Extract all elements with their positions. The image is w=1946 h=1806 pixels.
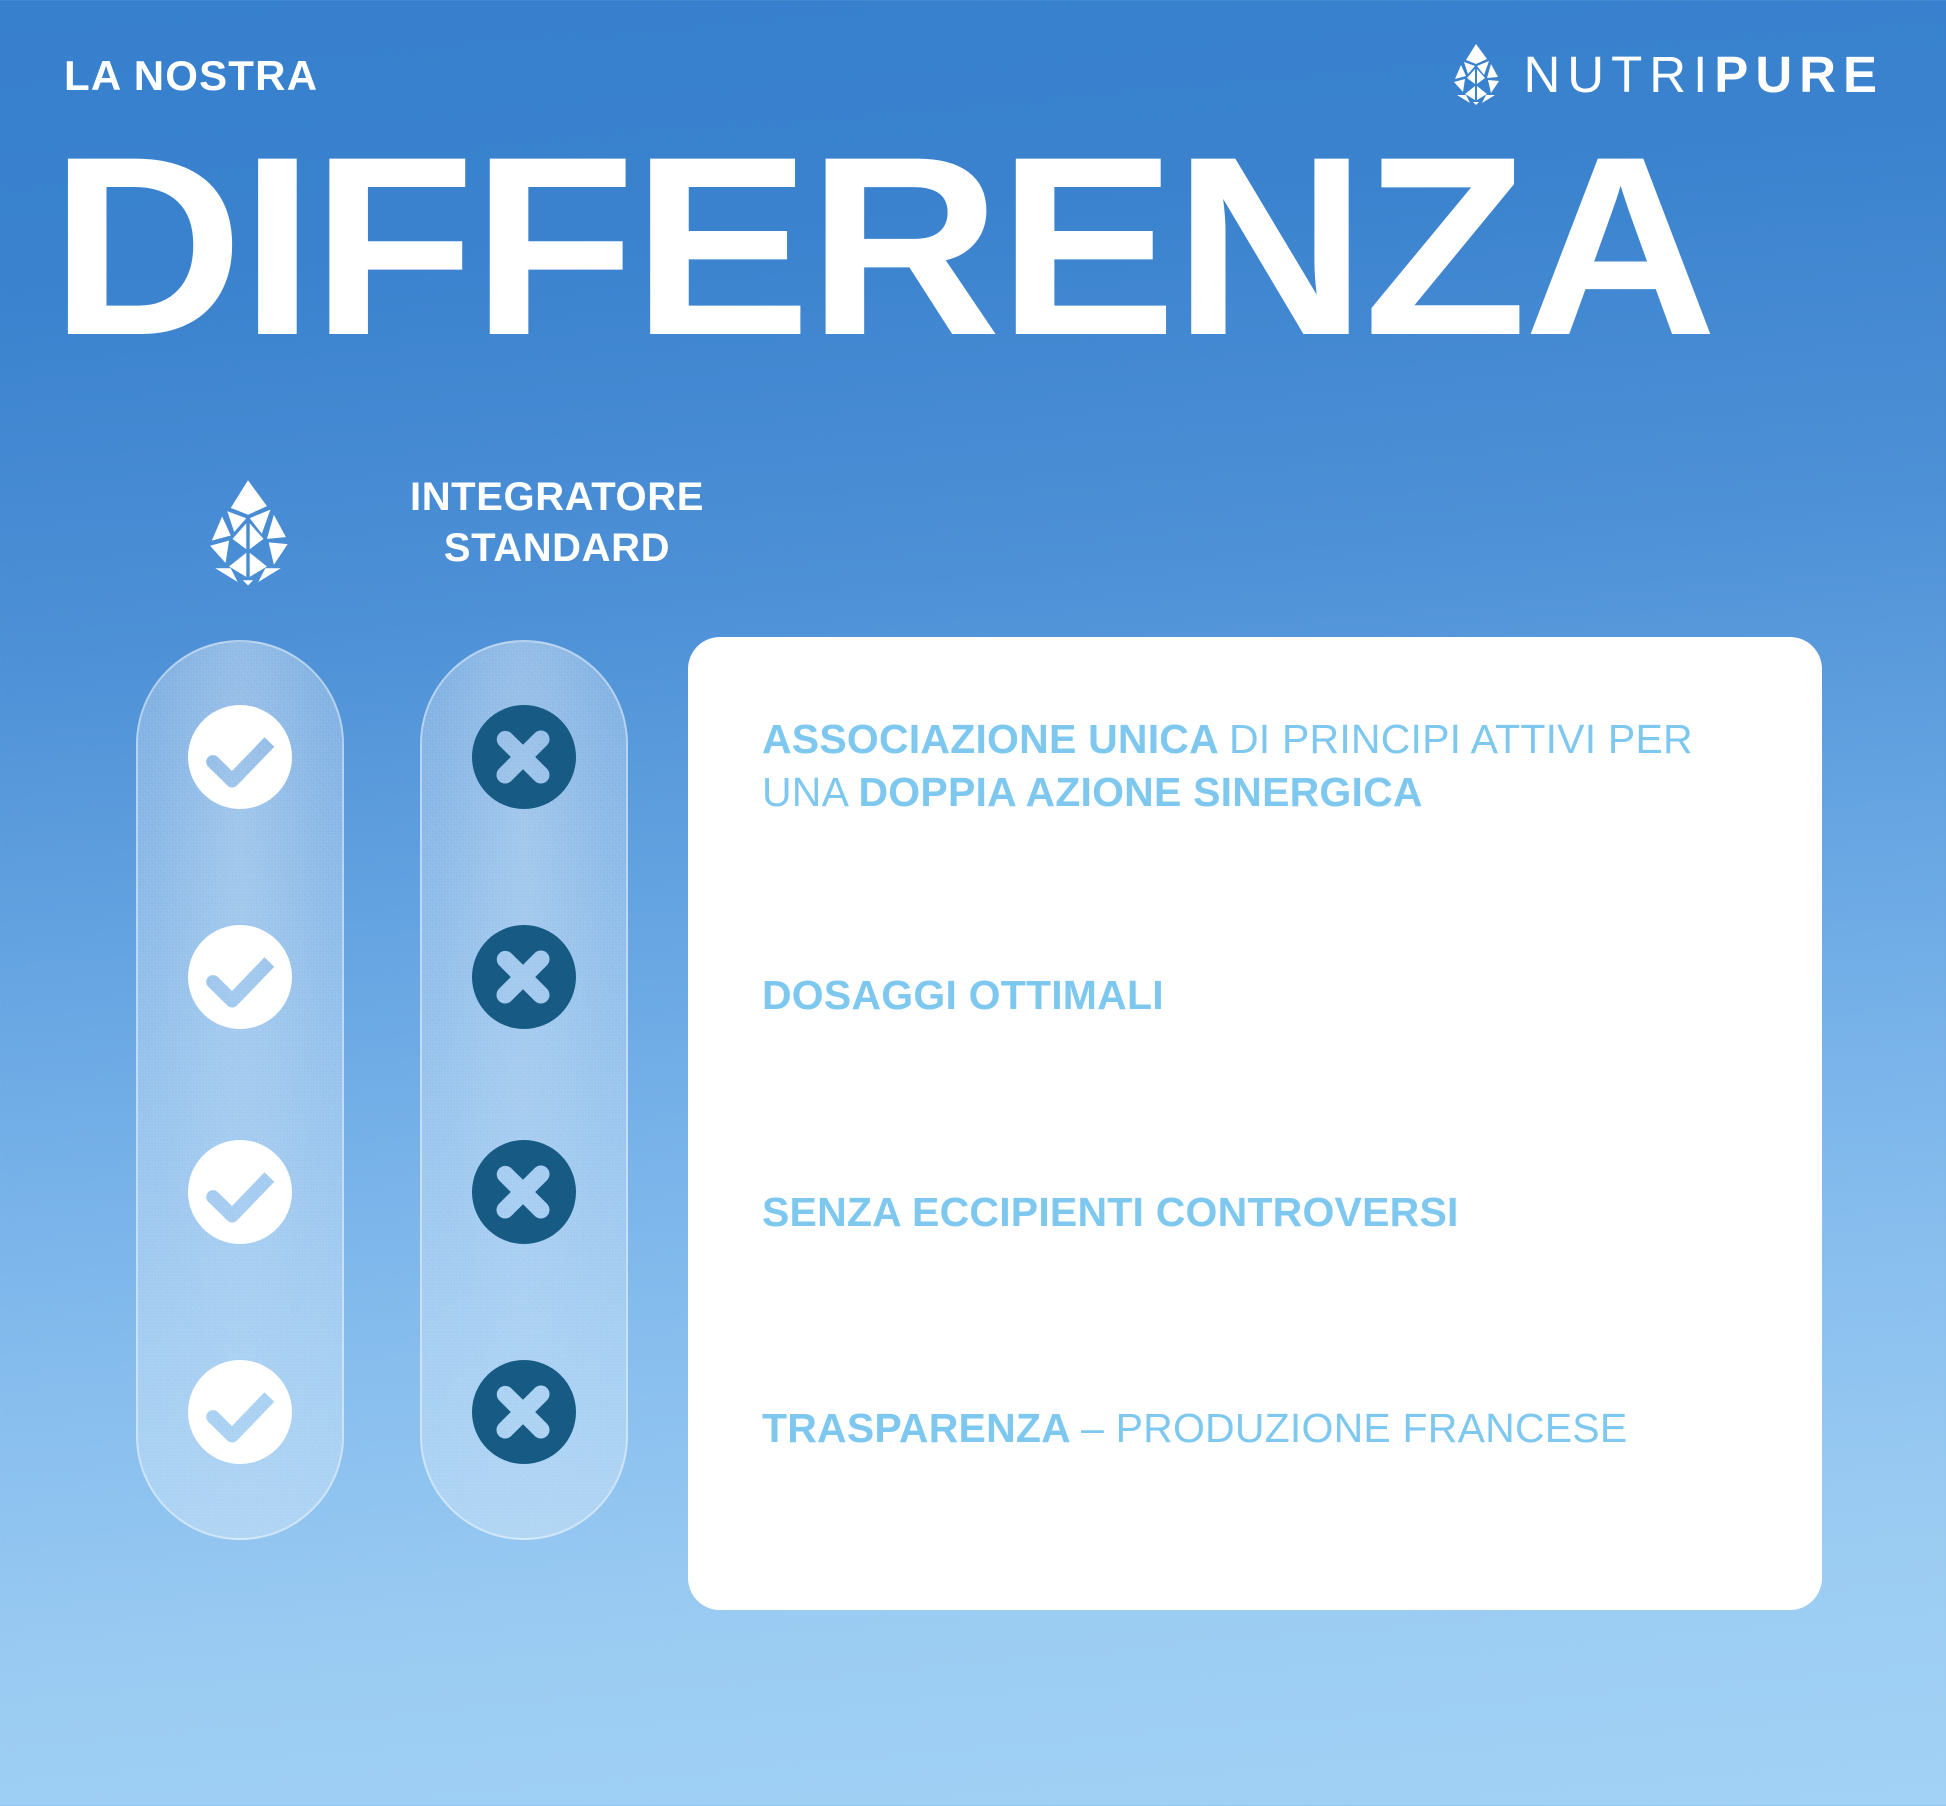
pill-column-ours bbox=[136, 640, 344, 1540]
cross-icon bbox=[472, 705, 576, 809]
benefit-text-strong: DOSAGGI OTTIMALI bbox=[762, 972, 1164, 1018]
benefit-text-strong: TRASPARENZA bbox=[762, 1405, 1081, 1451]
benefit-text-strong: SENZA ECCIPIENTI CONTROVERSI bbox=[762, 1189, 1459, 1235]
benefit-item: ASSOCIAZIONE UNICA DI PRINCIPI ATTIVI PE… bbox=[762, 713, 1762, 820]
cross-icon bbox=[472, 1140, 576, 1244]
benefit-item: TRASPARENZA – PRODUZIONE FRANCESE bbox=[762, 1402, 1762, 1455]
benefits-card: ASSOCIAZIONE UNICA DI PRINCIPI ATTIVI PE… bbox=[688, 637, 1822, 1610]
pill-column-standard bbox=[420, 640, 628, 1540]
brand-name-bold: PURE bbox=[1714, 46, 1884, 103]
standard-column-label: INTEGRATORE STANDARD bbox=[352, 472, 762, 574]
brand-wordmark: NUTRIPURE bbox=[1523, 49, 1884, 100]
check-icon bbox=[188, 705, 292, 809]
cross-icon bbox=[472, 1360, 576, 1464]
check-icon bbox=[188, 1140, 292, 1244]
leaf-icon bbox=[1447, 42, 1505, 106]
column-headers: INTEGRATORE STANDARD bbox=[120, 462, 820, 602]
benefit-item: SENZA ECCIPIENTI CONTROVERSI bbox=[762, 1186, 1762, 1239]
benefit-text-strong: DOPPIA AZIONE SINERGICA bbox=[859, 769, 1423, 815]
standard-label-line-1: INTEGRATORE bbox=[352, 472, 762, 523]
eyebrow-text: LA NOSTRA bbox=[64, 52, 318, 100]
benefit-item: DOSAGGI OTTIMALI bbox=[762, 969, 1762, 1022]
cross-icon bbox=[472, 925, 576, 1029]
page-title: DIFFERENZA bbox=[50, 130, 1946, 365]
brand-logo: NUTRIPURE bbox=[1447, 42, 1884, 106]
benefit-text-strong: ASSOCIAZIONE UNICA bbox=[762, 716, 1229, 762]
benefit-text-normal: – PRODUZIONE FRANCESE bbox=[1081, 1405, 1627, 1451]
standard-label-line-2: STANDARD bbox=[352, 523, 762, 574]
check-icon bbox=[188, 925, 292, 1029]
leaf-icon bbox=[198, 468, 298, 596]
brand-name-light: NUTRI bbox=[1523, 46, 1714, 103]
check-icon bbox=[188, 1360, 292, 1464]
